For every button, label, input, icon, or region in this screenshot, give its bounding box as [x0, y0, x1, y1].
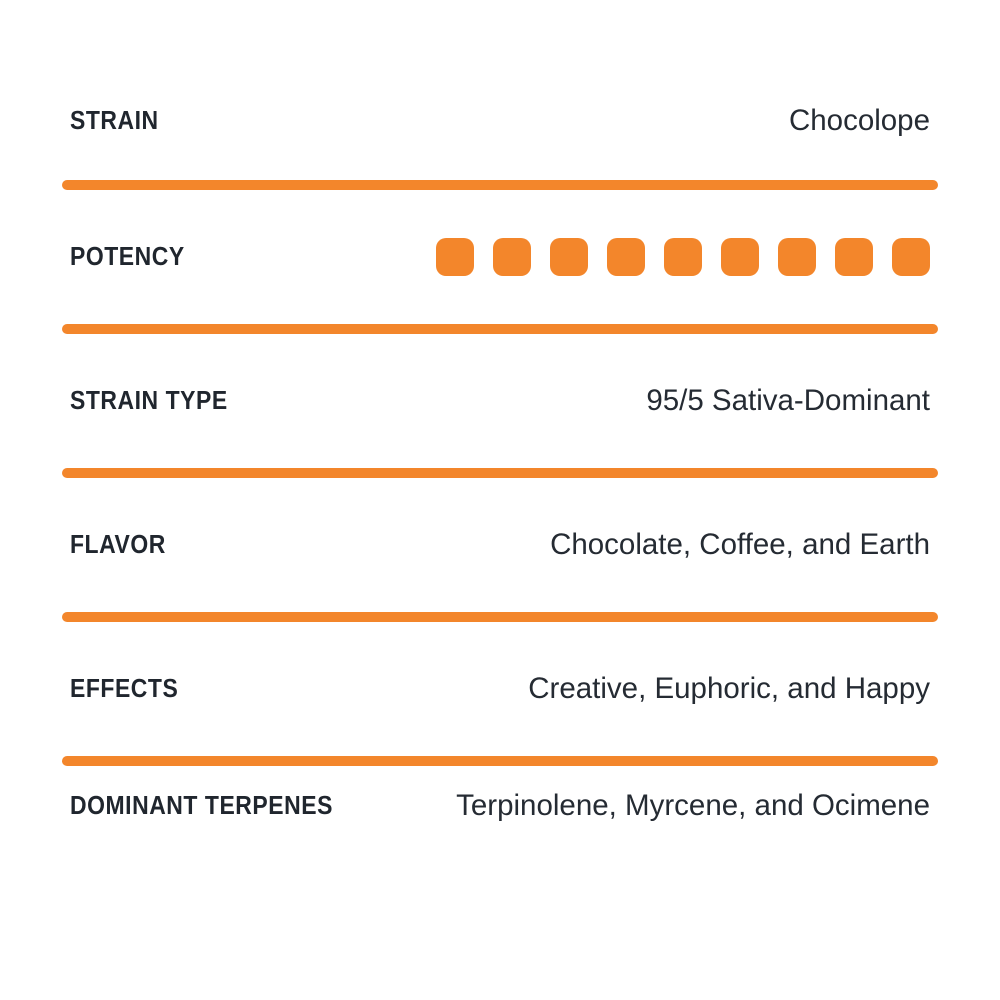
- spec-row-effects: EFFECTS Creative, Euphoric, and Happy: [0, 622, 1000, 756]
- spec-row-potency: POTENCY: [0, 190, 1000, 324]
- potency-pip-7: [778, 238, 816, 276]
- spec-label-effects: EFFECTS: [70, 675, 178, 703]
- spec-label-flavor: FLAVOR: [70, 531, 166, 559]
- row-divider-5: [62, 756, 938, 766]
- spec-label-potency: POTENCY: [70, 243, 185, 271]
- spec-row-strain: STRAIN Chocolope: [0, 62, 1000, 180]
- potency-pip-6: [721, 238, 759, 276]
- strain-spec-card: STRAIN Chocolope POTENCY STRAIN TYPE: [0, 0, 1000, 1000]
- potency-pip-5: [664, 238, 702, 276]
- potency-pip-3: [550, 238, 588, 276]
- spec-row-flavor: FLAVOR Chocolate, Coffee, and Earth: [0, 478, 1000, 612]
- row-divider-1: [62, 180, 938, 190]
- potency-pip-1: [436, 238, 474, 276]
- spec-label-strain-type: STRAIN TYPE: [70, 387, 228, 415]
- potency-pip-4: [607, 238, 645, 276]
- row-divider-4: [62, 612, 938, 622]
- spec-value-strain: Chocolope: [169, 103, 930, 139]
- spec-label-dominant-terpenes: DOMINANT TERPENES: [70, 792, 333, 820]
- potency-pip-9: [892, 238, 930, 276]
- spec-value-effects: Creative, Euphoric, and Happy: [190, 671, 930, 707]
- spec-label-strain: STRAIN: [70, 107, 159, 135]
- row-divider-3: [62, 468, 938, 478]
- spec-value-strain-type: 95/5 Sativa-Dominant: [245, 383, 930, 419]
- row-divider-2: [62, 324, 938, 334]
- spec-row-dominant-terpenes: DOMINANT TERPENES Terpinolene, Myrcene, …: [0, 766, 1000, 916]
- spec-row-strain-type: STRAIN TYPE 95/5 Sativa-Dominant: [0, 334, 1000, 468]
- top-spacer: [0, 0, 1000, 62]
- potency-pip-8: [835, 238, 873, 276]
- potency-pip-2: [493, 238, 531, 276]
- spec-value-flavor: Chocolate, Coffee, and Earth: [177, 527, 930, 563]
- spec-rows-container: STRAIN Chocolope POTENCY STRAIN TYPE: [0, 0, 1000, 916]
- potency-meter: [436, 238, 930, 276]
- spec-value-dominant-terpenes: Terpinolene, Myrcene, and Ocimene: [362, 788, 930, 824]
